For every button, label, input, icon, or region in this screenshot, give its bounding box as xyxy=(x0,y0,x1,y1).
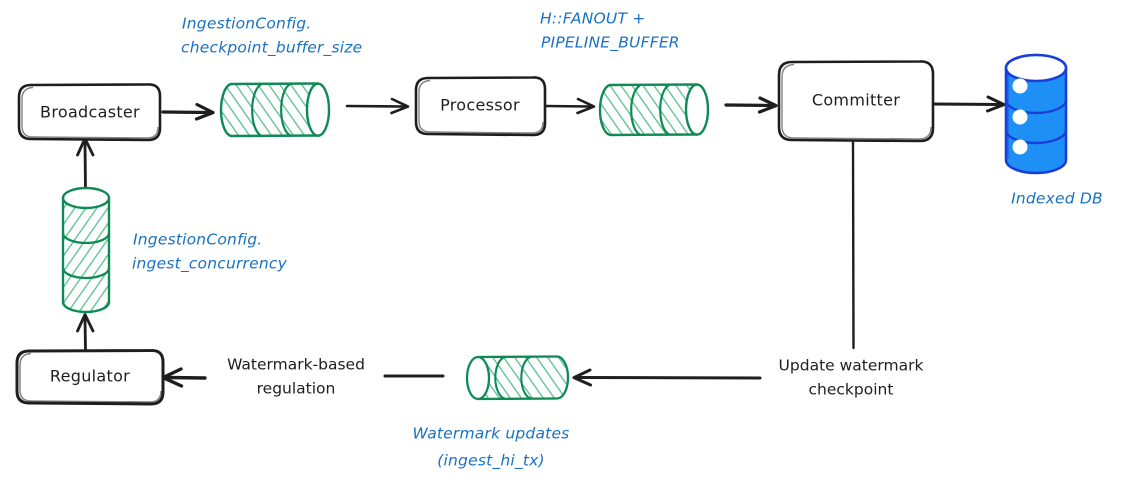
pipeline-diagram: Broadcaster Processor Committer Regulato… xyxy=(0,0,1124,479)
edge-label-update-line2: checkpoint xyxy=(809,381,894,399)
db-indicator-dot-2 xyxy=(1013,110,1028,125)
arrow-broadcaster-to-checkpoint-buffer xyxy=(163,105,213,120)
annotation-checkpoint-line2: checkpoint_buffer_size xyxy=(181,39,362,58)
annotation-pipeline-buffer: H::FANOUT + PIPELINE_BUFFER xyxy=(540,10,680,53)
annotation-pipeline-line2: PIPELINE_BUFFER xyxy=(541,34,680,53)
annotation-indexed-db: Indexed DB xyxy=(1011,190,1103,208)
edge-label-watermark-regulation: Watermark-based regulation xyxy=(227,356,365,398)
arrow-regulator-to-concurrency-buffer xyxy=(78,315,94,353)
edge-label-update-line1: Update watermark xyxy=(779,357,924,375)
annotation-pipeline-line1: H::FANOUT + xyxy=(540,10,645,28)
arrow-committer-to-indexed-db xyxy=(933,97,1004,111)
buffer-checkpoint-buffer xyxy=(221,84,329,137)
node-committer-label: Committer xyxy=(812,91,900,110)
node-processor[interactable]: Processor xyxy=(416,77,545,135)
annotation-watermark-updates: Watermark updates (ingest_hi_tx) xyxy=(413,425,570,471)
node-regulator[interactable]: Regulator xyxy=(17,350,163,404)
arrow-concurrency-buffer-to-broadcaster xyxy=(78,139,94,192)
arrow-checkpoint-buffer-to-processor xyxy=(347,99,408,113)
annotation-indexed-db-label: Indexed DB xyxy=(1011,190,1103,208)
arrow-pipeline-buffer-to-committer xyxy=(726,98,776,112)
annotation-checkpoint-line1: IngestionConfig. xyxy=(182,15,311,33)
arrow-committer-to-watermark-buffer xyxy=(574,370,760,385)
db-indicator-dot-1 xyxy=(1013,79,1028,94)
annotation-concurrency-line2: ingest_concurrency xyxy=(132,255,288,274)
buffer-pipeline-buffer xyxy=(600,85,708,136)
annotation-checkpoint-buffer-size: IngestionConfig. checkpoint_buffer_size xyxy=(181,15,362,58)
node-committer[interactable]: Committer xyxy=(779,61,933,141)
node-broadcaster-label: Broadcaster xyxy=(40,103,140,122)
buffer-concurrency-buffer xyxy=(63,188,109,312)
annotation-watermark-line1: Watermark updates xyxy=(413,425,570,443)
node-regulator-label: Regulator xyxy=(50,367,130,386)
edge-label-update-watermark: Update watermark checkpoint xyxy=(779,357,924,399)
annotation-concurrency-line1: IngestionConfig. xyxy=(133,231,262,249)
annotation-watermark-line2: (ingest_hi_tx) xyxy=(437,452,544,471)
buffer-watermark-buffer xyxy=(467,357,568,400)
edge-label-regulation-line1: Watermark-based xyxy=(227,356,365,374)
line-committer-to-watermark-path xyxy=(853,142,854,348)
arrow-processor-to-pipeline-buffer xyxy=(545,99,594,113)
arrow-regulation-to-regulator xyxy=(163,369,205,386)
node-broadcaster[interactable]: Broadcaster xyxy=(19,84,160,140)
db-indicator-dot-3 xyxy=(1013,140,1028,155)
edge-label-regulation-line2: regulation xyxy=(257,380,336,398)
node-processor-label: Processor xyxy=(440,96,520,115)
node-indexed-db[interactable] xyxy=(1006,55,1066,173)
annotation-ingest-concurrency: IngestionConfig. ingest_concurrency xyxy=(132,231,288,274)
